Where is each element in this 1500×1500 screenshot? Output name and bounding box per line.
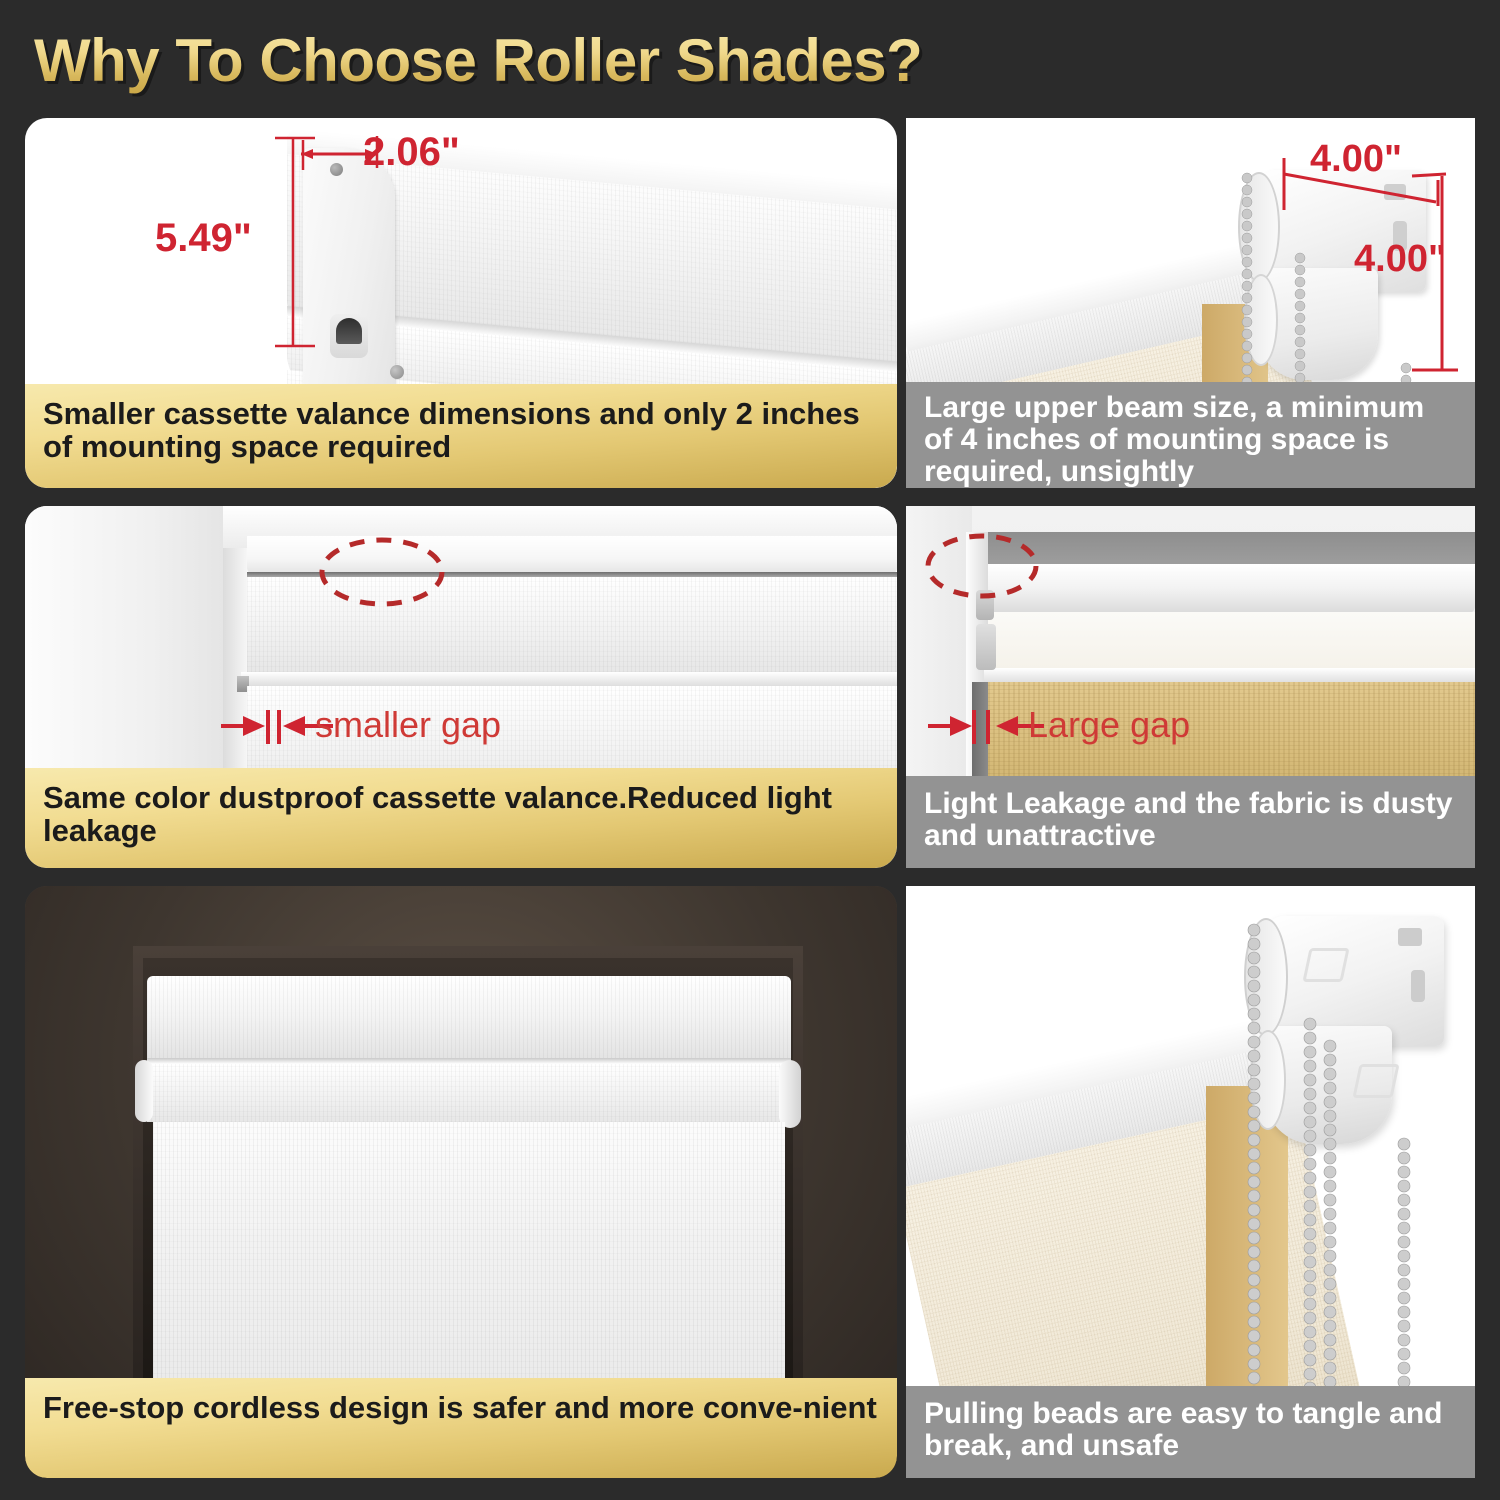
panel-6-caption: Pulling beads are easy to tangle and bre…	[906, 1386, 1475, 1478]
panel-cordless-design: Free-stop cordless design is safer and m…	[25, 886, 897, 1478]
dimension-label-height: 4.00"	[1354, 238, 1446, 281]
panel-5-caption: Free-stop cordless design is safer and m…	[25, 1378, 897, 1478]
dimension-label-width: 4.00"	[1310, 138, 1402, 181]
gap-label: smaller gap	[315, 704, 501, 746]
page-title: Why To Choose Roller Shades?	[34, 26, 922, 95]
panel-light-leakage: Large gap Light Leakage and the fabric i…	[906, 506, 1475, 868]
panel-3-caption: Same color dustproof cassette valance.Re…	[25, 768, 897, 868]
panel-4-caption: Light Leakage and the fabric is dusty an…	[906, 776, 1475, 868]
dimension-label-height: 5.49"	[155, 216, 252, 261]
dimension-label-width: 2.06"	[363, 130, 460, 175]
panel-2-caption: Large upper beam size, a minimum of 4 in…	[906, 382, 1475, 488]
panel-smaller-cassette: 2.06" 5.49" Smaller cassette valance dim…	[25, 118, 897, 488]
gap-label: Large gap	[1028, 704, 1190, 746]
panel-dustproof-valance: smaller gap Same color dustproof cassett…	[25, 506, 897, 868]
panel-1-caption: Smaller cassette valance dimensions and …	[25, 384, 897, 488]
panel-pulling-beads: Pulling beads are easy to tangle and bre…	[906, 886, 1475, 1478]
panel-large-upper-beam: 4.00" 4.00" Large upper beam size, a min…	[906, 118, 1475, 488]
